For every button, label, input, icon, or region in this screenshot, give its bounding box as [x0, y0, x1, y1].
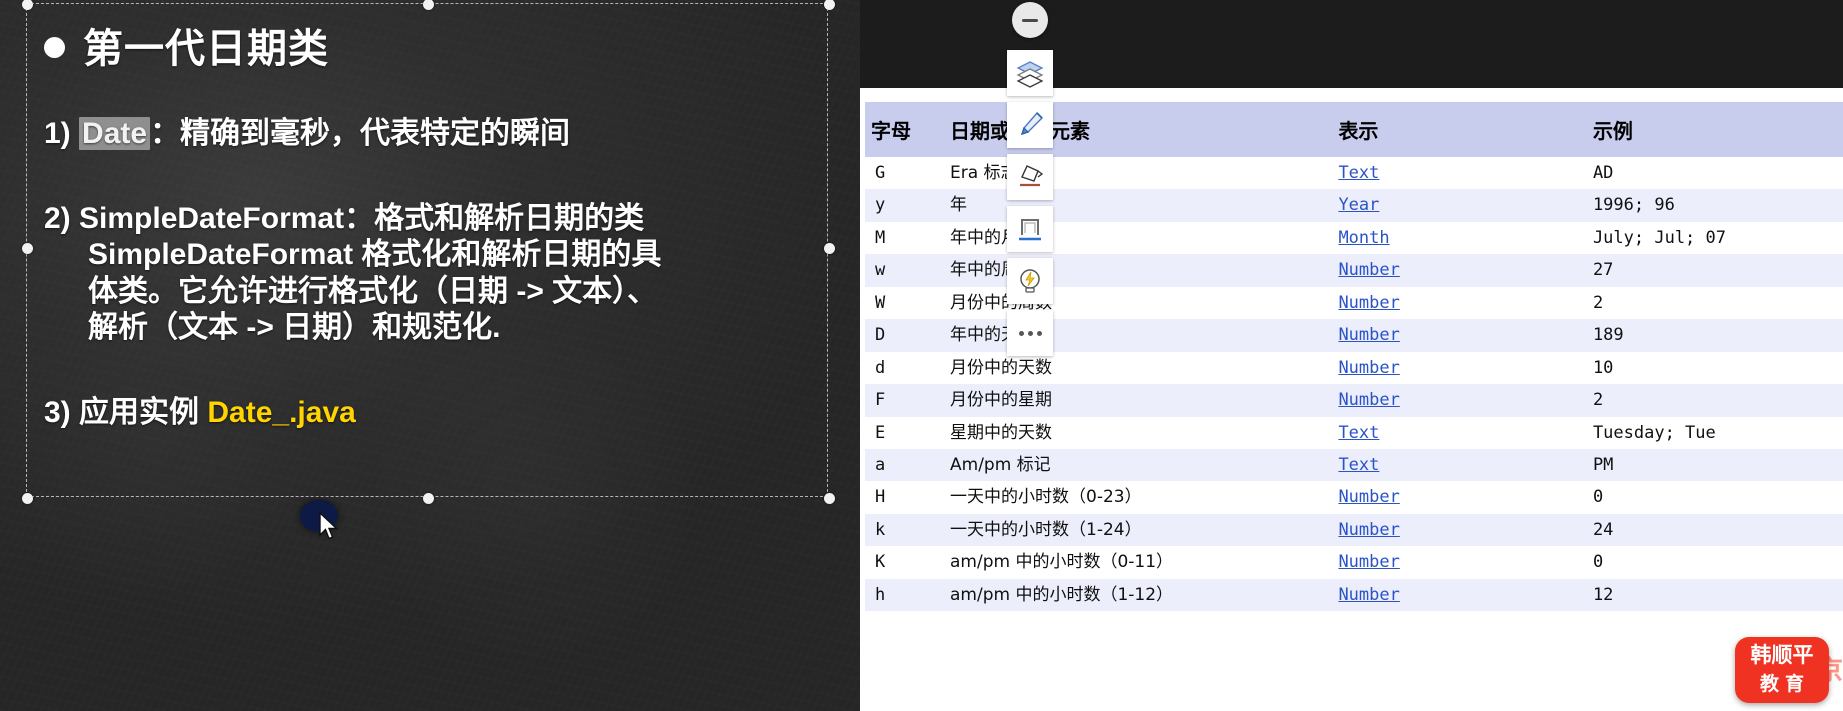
document-panel: 字母 日期或时间元素 表示 示例 G Era 标志符 Text AD y [860, 0, 1843, 711]
cell-element: am/pm 中的小时数（0-11） [940, 546, 1328, 578]
page-title: 第一代日期类 [83, 16, 329, 74]
cell-element: am/pm 中的小时数（1-12） [940, 579, 1328, 611]
slide-title-row: 第一代日期类 [44, 16, 832, 74]
slide-item-2: 2) SimpleDateFormat：格式和解析日期的类 SimpleDate… [44, 201, 832, 347]
cell-letter: E [865, 417, 940, 449]
cell-element-text: 一天中的小时数（1-24） [950, 519, 1200, 541]
item-3-code: Date_.java [207, 396, 355, 429]
repr-link[interactable]: Month [1338, 228, 1389, 248]
cell-repr: Year [1328, 189, 1583, 221]
cell-letter: K [865, 546, 940, 578]
slide-item-1: 1) Date：精确到毫秒，代表特定的瞬间 [44, 116, 832, 153]
slide-canvas: 第一代日期类 1) Date：精确到毫秒，代表特定的瞬间 2) SimpleDa… [0, 0, 860, 711]
cell-example: July; Jul; 07 [1583, 222, 1843, 254]
cell-example: 10 [1583, 352, 1843, 384]
cell-element: 年中的周数 [940, 254, 1328, 286]
cell-element: 一天中的小时数（1-24） [940, 514, 1328, 546]
highlight-icon[interactable] [1007, 258, 1053, 304]
repr-link[interactable]: Number [1338, 358, 1399, 378]
cell-repr: Number [1328, 319, 1583, 351]
item-2-line-4: 解析（文本 -> 日期）和规范化. [88, 310, 832, 347]
brand-badge: 韩顺平 教育 [1735, 637, 1829, 703]
cell-repr: Number [1328, 481, 1583, 513]
cell-letter: k [865, 514, 940, 546]
resize-handle-top-left[interactable] [22, 0, 33, 10]
cell-element: 月份中的天数 [940, 352, 1328, 384]
cell-repr: Text [1328, 157, 1583, 189]
cell-letter: D [865, 319, 940, 351]
th-letter: 字母 [865, 102, 940, 157]
cell-repr: Text [1328, 417, 1583, 449]
table-row: F 月份中的星期 Number 2 [865, 384, 1843, 416]
zoom-out-icon[interactable] [1012, 2, 1048, 38]
item-3-label: 应用实例 [79, 396, 199, 429]
brush-icon[interactable] [1007, 102, 1053, 148]
cell-element: 星期中的天数 [940, 417, 1328, 449]
repr-link[interactable]: Number [1338, 487, 1399, 507]
cell-element-text: 一天中的小时数（0-23） [950, 486, 1200, 508]
cell-example: 1996; 96 [1583, 189, 1843, 221]
cell-example: 12 [1583, 579, 1843, 611]
repr-link[interactable]: Number [1338, 260, 1399, 280]
cell-example: 24 [1583, 514, 1843, 546]
cell-repr: Month [1328, 222, 1583, 254]
cell-element: 月份中的周数 [940, 287, 1328, 319]
cell-letter: W [865, 287, 940, 319]
cell-example: 0 [1583, 481, 1843, 513]
eraser-icon[interactable] [1007, 154, 1053, 200]
cell-example: 2 [1583, 287, 1843, 319]
cell-repr: Number [1328, 546, 1583, 578]
cell-element: 一天中的小时数（0-23） [940, 481, 1328, 513]
th-example: 示例 [1583, 102, 1843, 157]
bullet-point-icon [44, 37, 65, 58]
repr-link[interactable]: Text [1338, 423, 1379, 443]
cell-element-text: am/pm 中的小时数（0-11） [950, 551, 1200, 573]
cell-element: 年中的月份 [940, 222, 1328, 254]
annotation-toolbar[interactable] [1006, 0, 1054, 356]
item-2-line-1-row: 2) SimpleDateFormat：格式和解析日期的类 [44, 201, 832, 238]
th-repr: 表示 [1328, 102, 1583, 157]
table-row: k 一天中的小时数（1-24） Number 24 [865, 514, 1843, 546]
cell-repr: Number [1328, 384, 1583, 416]
mouse-cursor [300, 500, 340, 544]
cell-letter: w [865, 254, 940, 286]
cell-element: 年 [940, 189, 1328, 221]
cell-example: AD [1583, 157, 1843, 189]
cell-repr: Number [1328, 287, 1583, 319]
cell-example: 189 [1583, 319, 1843, 351]
item-3-number: 3) [44, 396, 71, 429]
cell-letter: G [865, 157, 940, 189]
ellipsis-glyph-icon [1019, 331, 1042, 336]
cell-letter: y [865, 189, 940, 221]
slide-item-3: 3) 应用实例 Date_.java [44, 395, 832, 432]
table-row: d 月份中的天数 Number 10 [865, 352, 1843, 384]
repr-link[interactable]: Text [1338, 163, 1379, 183]
table-row: E 星期中的天数 Text Tuesday; Tue [865, 417, 1843, 449]
cell-repr: Number [1328, 254, 1583, 286]
brand-line-2: 教育 [1754, 669, 1810, 696]
repr-link[interactable]: Number [1338, 520, 1399, 540]
cell-element-text: am/pm 中的小时数（1-12） [950, 584, 1200, 606]
layers-icon[interactable] [1007, 50, 1053, 96]
repr-link[interactable]: Number [1338, 390, 1399, 410]
cell-element: Am/pm 标记 [940, 449, 1328, 481]
more-icon[interactable] [1007, 310, 1053, 356]
cell-element: Era 标志符 [940, 157, 1328, 189]
resize-handle-middle-left[interactable] [22, 243, 33, 254]
item-1-highlight: Date [79, 117, 150, 150]
cell-element: 月份中的星期 [940, 384, 1328, 416]
cell-example: PM [1583, 449, 1843, 481]
th-element: 日期或时间元素 [940, 102, 1328, 157]
resize-handle-bottom-left[interactable] [22, 493, 33, 504]
cell-example: 0 [1583, 546, 1843, 578]
item-2-line-1: SimpleDateFormat：格式和解析日期的类 [79, 202, 644, 235]
cell-letter: H [865, 481, 940, 513]
cell-letter: d [865, 352, 940, 384]
repr-link[interactable]: Number [1338, 293, 1399, 313]
cell-repr: Text [1328, 449, 1583, 481]
cell-element: 年中的天数 [940, 319, 1328, 351]
table-row: K am/pm 中的小时数（0-11） Number 0 [865, 546, 1843, 578]
item-1-rest: ：精确到毫秒，代表特定的瞬间 [150, 117, 570, 150]
table-row: h am/pm 中的小时数（1-12） Number 12 [865, 579, 1843, 611]
cell-example: Tuesday; Tue [1583, 417, 1843, 449]
screen: 第一代日期类 1) Date：精确到毫秒，代表特定的瞬间 2) SimpleDa… [0, 0, 1843, 711]
repr-link[interactable]: Number [1338, 325, 1399, 345]
table-row: H 一天中的小时数（0-23） Number 0 [865, 481, 1843, 513]
cell-example: 2 [1583, 384, 1843, 416]
cell-letter: h [865, 579, 940, 611]
cell-letter: a [865, 449, 940, 481]
table-row: a Am/pm 标记 Text PM [865, 449, 1843, 481]
brand-line-1: 韩顺平 [1751, 644, 1814, 666]
item-2-number: 2) [44, 202, 71, 235]
item-1-number: 1) [44, 117, 71, 150]
repr-link[interactable]: Number [1338, 585, 1399, 605]
item-2-line-2: SimpleDateFormat 格式化和解析日期的具 [88, 237, 832, 274]
shape-icon[interactable] [1007, 206, 1053, 252]
minus-glyph-icon [1022, 19, 1038, 22]
cell-repr: Number [1328, 579, 1583, 611]
cell-repr: Number [1328, 352, 1583, 384]
repr-link[interactable]: Number [1338, 552, 1399, 572]
repr-link[interactable]: Text [1338, 455, 1379, 475]
repr-link[interactable]: Year [1338, 195, 1379, 215]
item-2-line-3: 体类。它允许进行格式化（日期 -> 文本）、 [88, 274, 832, 311]
cell-example: 27 [1583, 254, 1843, 286]
cell-letter: F [865, 384, 940, 416]
cell-letter: M [865, 222, 940, 254]
slide-text-body: 第一代日期类 1) Date：精确到毫秒，代表特定的瞬间 2) SimpleDa… [42, 6, 832, 506]
cell-repr: Number [1328, 514, 1583, 546]
